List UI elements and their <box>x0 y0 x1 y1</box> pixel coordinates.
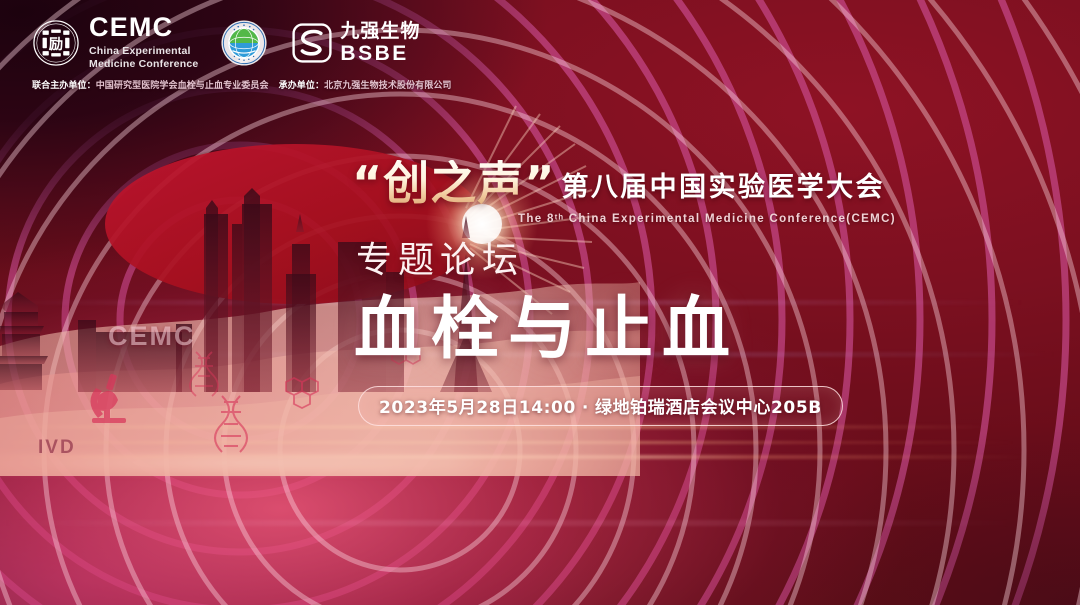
logo-society-icon <box>220 19 268 67</box>
organizers-line: 联合主办单位：中国研究型医院学会血栓与止血专业委员会承办单位：北京九强生物技术股… <box>32 78 452 91</box>
cemc-subtitle: China Experimental Medicine Conference <box>89 45 198 72</box>
artwork-watermark-ivd: IVD <box>38 437 76 459</box>
bsbe-text-block: 九强生物 BSBE <box>340 22 420 64</box>
poster-canvas: CEMC IVD <box>0 0 1080 605</box>
co-host-value: 中国研究型医院学会血栓与止血专业委员会 <box>96 81 269 91</box>
schedule-venue: 绿地铂瑞酒店会议中心205B <box>595 398 822 418</box>
logo-cemc: 励 CEMC China Experimental Medicine Confe… <box>32 14 198 72</box>
conference-slogan: “创之声” <box>352 160 555 206</box>
header-logo-bar: 励 CEMC China Experimental Medicine Confe… <box>0 0 640 96</box>
bsbe-name-cn: 九强生物 <box>340 22 420 41</box>
logo-bsbe: 九强生物 BSBE <box>292 22 420 64</box>
conference-title: 第八届中国实验医学大会 <box>561 174 884 206</box>
bsbe-mark-icon <box>292 23 332 63</box>
cemc-text-block: CEMC China Experimental Medicine Confere… <box>89 14 198 72</box>
organizer-label: 承办单位： <box>279 81 325 91</box>
conference-title-en: The 8ᵗʰ China Experimental Medicine Conf… <box>518 213 1052 225</box>
svg-text:励: 励 <box>49 36 63 53</box>
forum-label: 专题论坛 <box>356 243 1052 279</box>
bsbe-name-en: BSBE <box>340 43 420 64</box>
cemc-subtitle-line2: Medicine Conference <box>89 58 198 70</box>
cemc-subtitle-line1: China Experimental <box>89 45 191 57</box>
organizer-value: 北京九强生物技术股份有限公司 <box>324 81 451 91</box>
co-host-label: 联合主办单位： <box>32 81 96 91</box>
conference-headline-row: “创之声” 第八届中国实验医学大会 <box>352 160 1052 206</box>
schedule-datetime: 2023年5月28日14:00 <box>379 398 576 418</box>
artwork-watermark-cemc: CEMC <box>108 321 196 352</box>
forum-topic-title: 血栓与止血 <box>354 295 1052 364</box>
cemc-seal-icon: 励 <box>32 19 80 67</box>
schedule-pill: 2023年5月28日14:00·绿地铂瑞酒店会议中心205B <box>358 386 843 426</box>
cemc-acronym: CEMC <box>89 14 198 41</box>
schedule-separator: · <box>582 398 589 418</box>
main-text-block: “创之声” 第八届中国实验医学大会 The 8ᵗʰ China Experime… <box>352 160 1052 426</box>
logo-row: 励 CEMC China Experimental Medicine Confe… <box>32 14 420 72</box>
